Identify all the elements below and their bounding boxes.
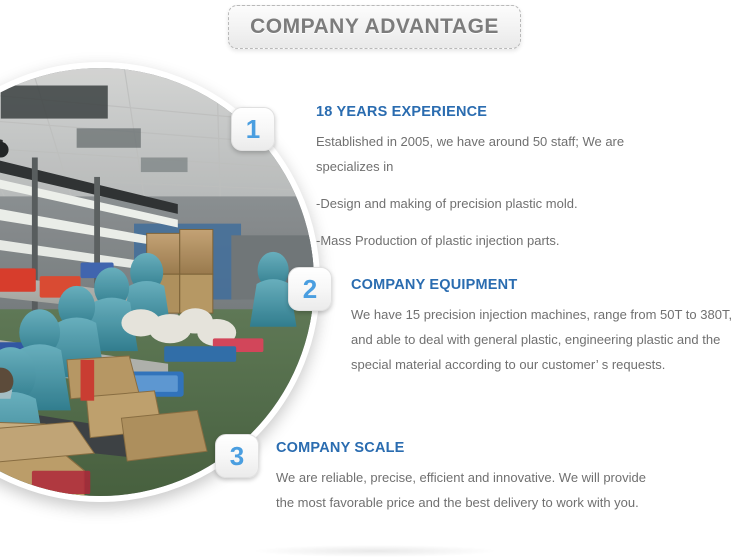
step-badge-2: 2 <box>288 267 332 311</box>
section-3-heading: COMPANY SCALE <box>276 440 658 456</box>
page-title-box: COMPANY ADVANTAGE <box>228 5 521 49</box>
section-3-paragraph-1: We are reliable, precise, efficient and … <box>276 465 658 515</box>
section-2-paragraph-1: We have 15 precision injection machines,… <box>351 302 743 377</box>
step-badge-2-number: 2 <box>303 276 317 302</box>
bottom-shadow <box>255 545 495 557</box>
section-1-paragraph-3: -Mass Production of plastic injection pa… <box>316 228 666 253</box>
step-badge-1-number: 1 <box>246 116 260 142</box>
step-badge-3: 3 <box>215 434 259 478</box>
advantage-section-3: COMPANY SCALE We are reliable, precise, … <box>276 440 658 515</box>
step-badge-3-number: 3 <box>230 443 244 469</box>
section-2-heading: COMPANY EQUIPMENT <box>351 277 743 293</box>
step-badge-1: 1 <box>231 107 275 151</box>
banner-region: COMPANY ADVANTAGE <box>0 0 750 60</box>
section-1-paragraph-1: Established in 2005, we have around 50 s… <box>316 129 666 179</box>
advantage-section-1: 18 YEARS EXPERIENCE Established in 2005,… <box>316 104 666 253</box>
section-1-heading: 18 YEARS EXPERIENCE <box>316 104 666 120</box>
section-1-paragraph-2: -Design and making of precision plastic … <box>316 191 666 216</box>
page-title: COMPANY ADVANTAGE <box>250 15 499 39</box>
advantage-section-2: COMPANY EQUIPMENT We have 15 precision i… <box>351 277 743 377</box>
